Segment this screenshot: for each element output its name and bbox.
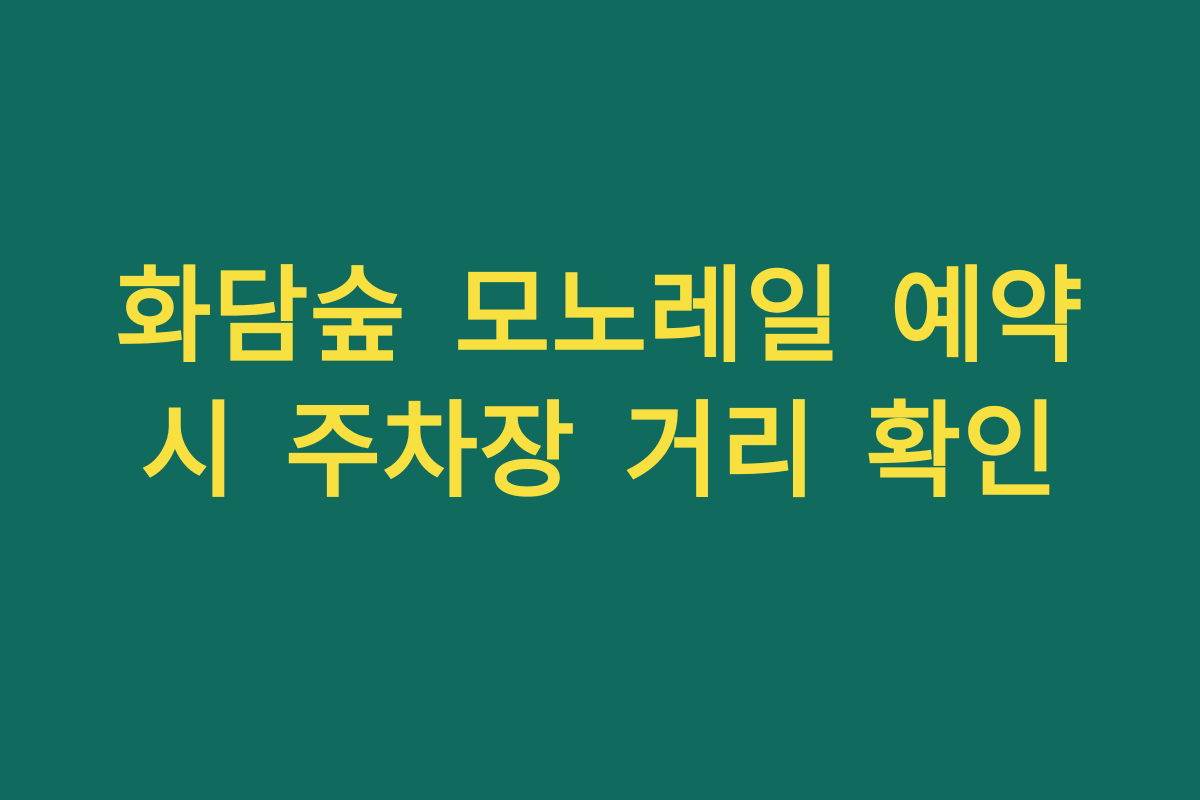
- thumbnail-card: 화담숲 모노레일 예약 시 주차장 거리 확인: [0, 0, 1200, 800]
- headline-line-1: 화담숲 모노레일 예약: [40, 250, 1160, 383]
- headline-line-2: 시 주차장 거리 확인: [40, 385, 1160, 518]
- headline-block: 화담숲 모노레일 예약 시 주차장 거리 확인: [0, 250, 1200, 518]
